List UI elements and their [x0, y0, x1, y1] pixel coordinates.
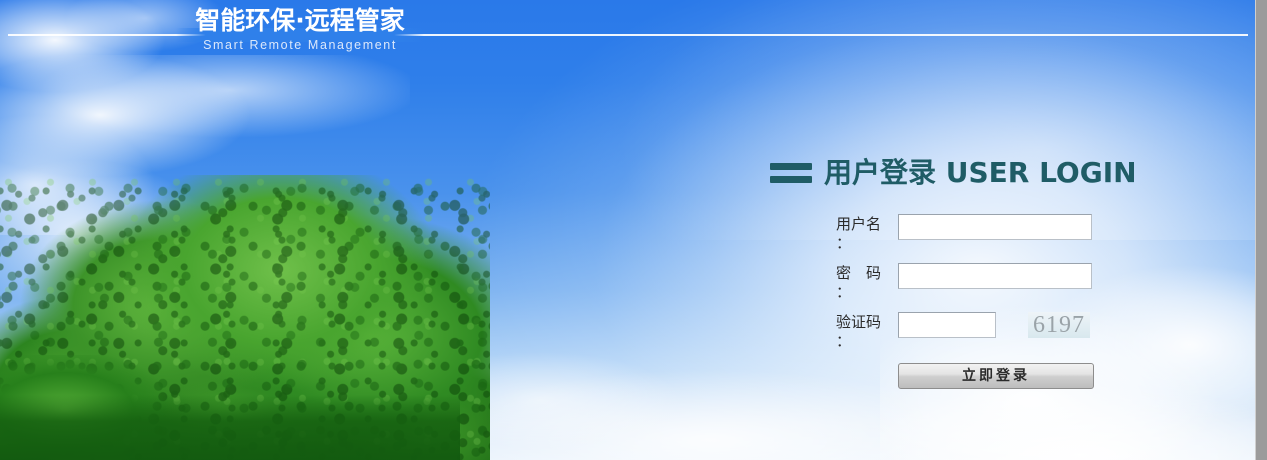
captcha-input[interactable]	[898, 312, 996, 338]
site-logo: 智能环保·远程管家 Smart Remote Management	[186, 6, 414, 53]
captcha-label: 验证码 ：	[836, 312, 898, 351]
form-row-password: 密 码 ：	[836, 263, 1190, 302]
password-label-colon: ：	[836, 283, 898, 302]
login-button[interactable]: 立即登录	[898, 363, 1094, 389]
two-bars-icon-top	[770, 163, 812, 170]
tree-foliage-base	[0, 395, 460, 460]
two-bars-icon-bottom	[770, 176, 812, 183]
username-label-colon: ：	[836, 234, 898, 253]
captcha-label-text: 验证码	[836, 313, 881, 331]
login-form: 用户名 ： 密 码 ： 验证码 ： 6197	[770, 214, 1190, 389]
password-label-text: 密 码	[836, 264, 881, 282]
two-bars-icon	[770, 163, 812, 183]
captcha-image[interactable]: 6197	[1028, 312, 1090, 338]
logo-title: 智能环保·远程管家	[186, 6, 414, 36]
form-row-username: 用户名 ：	[836, 214, 1190, 253]
login-title: 用户登录 USER LOGIN	[824, 156, 1137, 190]
captcha-label-colon: ：	[836, 332, 898, 351]
vertical-scrollbar[interactable]	[1255, 0, 1267, 460]
submit-row: 立即登录	[836, 363, 1190, 389]
login-title-row: 用户登录 USER LOGIN	[770, 150, 1190, 196]
username-input[interactable]	[898, 214, 1092, 240]
password-input[interactable]	[898, 263, 1092, 289]
login-panel: 用户登录 USER LOGIN 用户名 ： 密 码 ： 验证码	[770, 150, 1190, 389]
logo-subtitle: Smart Remote Management	[186, 37, 414, 53]
username-label-text: 用户名	[836, 215, 881, 233]
form-row-captcha: 验证码 ： 6197	[836, 312, 1190, 351]
login-page: 智能环保·远程管家 Smart Remote Management 用户登录 U…	[0, 0, 1267, 460]
password-label: 密 码 ：	[836, 263, 898, 302]
username-label: 用户名 ：	[836, 214, 898, 253]
